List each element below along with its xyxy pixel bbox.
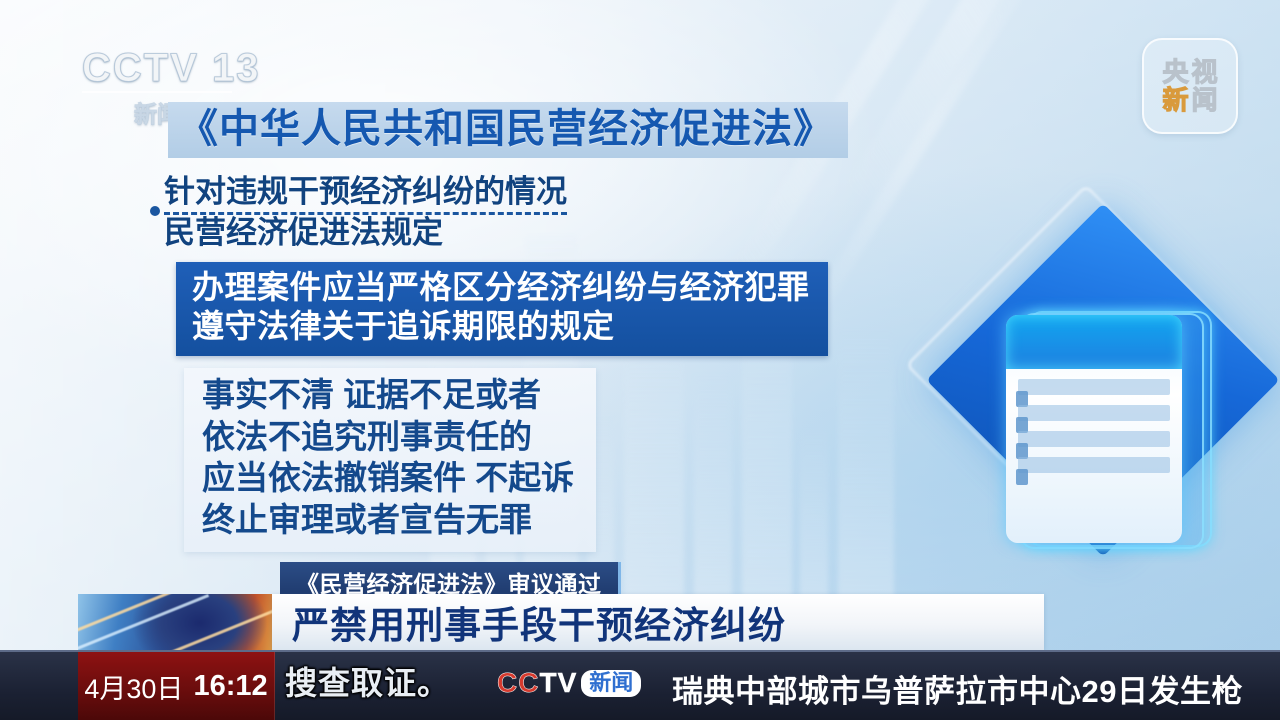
channel-logo-text: CCTV 13	[82, 48, 262, 88]
broadcast-screen: CCTV 13 新闻 央 视 新 闻 《中华人民共和国民营经济促进法》 针对违规…	[0, 0, 1280, 720]
datetime-chip: 4月30日 16:12	[78, 652, 275, 720]
lead-line-2: 民营经济促进法规定	[164, 215, 567, 252]
ticker-date: 4月30日	[84, 667, 183, 706]
law-title-bar: 《中华人民共和国民营经济促进法》	[168, 102, 848, 158]
news-ticker-bar: 4月30日 16:12 搜查取证。 CCTV 新闻 瑞典中部城市乌普萨拉市中心2…	[0, 650, 1280, 720]
light-panel-line-1: 事实不清 证据不足或者	[202, 374, 574, 416]
watermark-char-wen: 闻	[1192, 87, 1218, 113]
lower-third-headline: 严禁用刑事手段干预经济纠纷	[272, 594, 1044, 650]
headline-text: 严禁用刑事手段干预经济纠纷	[292, 595, 786, 649]
ticker-logo-cctv: CCTV	[497, 669, 577, 697]
blue-provision-block: 办理案件应当严格区分经济纠纷与经济犯罪 遵守法律关于追诉期限的规定	[176, 262, 828, 356]
watermark-char-xin: 新	[1162, 87, 1188, 113]
light-provision-panel: 事实不清 证据不足或者 依法不追究刑事责任的 应当依法撤销案件 不起诉 终止审理…	[184, 368, 596, 552]
logo-tv: TV	[539, 667, 577, 698]
watermark-char-shi: 视	[1192, 59, 1218, 85]
light-panel-line-3: 应当依法撤销案件 不起诉	[202, 457, 574, 499]
logo-c1: C	[497, 667, 518, 698]
blue-block-line-1: 办理案件应当严格区分经济纠纷与经济犯罪	[192, 268, 810, 307]
ticker-clock: 16:12	[193, 670, 267, 703]
lead-text-block: 针对违规干预经济纠纷的情况 民营经济促进法规定	[164, 174, 567, 251]
bullet-dot-icon	[150, 206, 160, 216]
closed-caption-text: 搜查取证。	[285, 658, 450, 704]
lead-line-1: 针对违规干预经济纠纷的情况	[164, 174, 567, 215]
law-title-text: 《中华人民共和国民营经济促进法》	[178, 106, 834, 152]
channel-logo-rule	[82, 91, 232, 93]
document-card-icon	[1006, 315, 1182, 543]
blue-block-line-2: 遵守法律关于追诉期限的规定	[192, 307, 810, 346]
cctv-news-watermark: 央 视 新 闻	[1142, 38, 1238, 134]
globe-decoration	[78, 594, 274, 652]
watermark-char-yang: 央	[1162, 59, 1188, 85]
ticker-logo-badge: 新闻	[581, 670, 641, 697]
document-diamond-graphic	[940, 215, 1270, 615]
light-panel-line-4: 终止审理或者宣告无罪	[202, 499, 574, 541]
light-panel-line-2: 依法不追究刑事责任的	[202, 416, 574, 458]
logo-c2: C	[518, 667, 539, 698]
document-card-stack	[1006, 315, 1196, 545]
ticker-cctv-news-logo: CCTV 新闻	[497, 669, 641, 697]
ticker-headline-text: 瑞典中部城市乌普萨拉市中心29日发生枪	[672, 666, 1243, 711]
